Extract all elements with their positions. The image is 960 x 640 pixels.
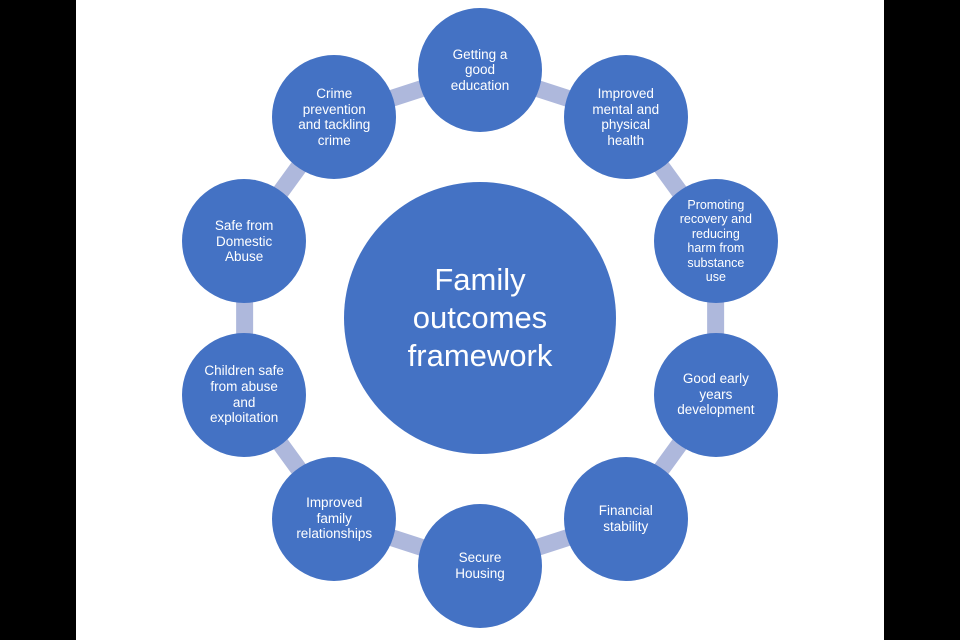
outcome-node-label: Improved family relationships — [290, 495, 378, 542]
outcome-node-housing[interactable]: Secure Housing — [418, 504, 542, 628]
diagram-stage: Family outcomes framework Getting a good… — [0, 0, 960, 640]
outcome-node-label: Secure Housing — [449, 550, 511, 581]
outcome-node-label: Good early years development — [671, 371, 760, 418]
outcome-node-financial[interactable]: Financial stability — [564, 457, 688, 581]
outcome-node-label: Crime prevention and tackling crime — [292, 86, 376, 149]
outcome-node-education[interactable]: Getting a good education — [418, 8, 542, 132]
center-node-family-outcomes-framework[interactable]: Family outcomes framework — [344, 182, 616, 454]
letterbox-right — [884, 0, 960, 640]
outcome-node-substance-use[interactable]: Promoting recovery and reducing harm fro… — [654, 179, 778, 303]
outcome-node-crime[interactable]: Crime prevention and tackling crime — [272, 55, 396, 179]
outcome-node-health[interactable]: Improved mental and physical health — [564, 55, 688, 179]
outcome-node-label: Safe from Domestic Abuse — [209, 218, 280, 265]
outcome-node-label: Promoting recovery and reducing harm fro… — [674, 198, 758, 285]
outcome-node-children-safe[interactable]: Children safe from abuse and exploitatio… — [182, 333, 306, 457]
outcome-node-label: Financial stability — [593, 503, 659, 534]
outcome-node-early-years[interactable]: Good early years development — [654, 333, 778, 457]
outcome-node-domestic-abuse[interactable]: Safe from Domestic Abuse — [182, 179, 306, 303]
center-node-label: Family outcomes framework — [402, 261, 559, 374]
diagram-canvas: Family outcomes framework Getting a good… — [76, 0, 884, 640]
outcome-node-relationships[interactable]: Improved family relationships — [272, 457, 396, 581]
letterbox-left — [0, 0, 76, 640]
outcome-node-label: Children safe from abuse and exploitatio… — [198, 363, 290, 426]
outcome-node-label: Getting a good education — [445, 47, 516, 94]
outcome-node-label: Improved mental and physical health — [586, 86, 665, 149]
